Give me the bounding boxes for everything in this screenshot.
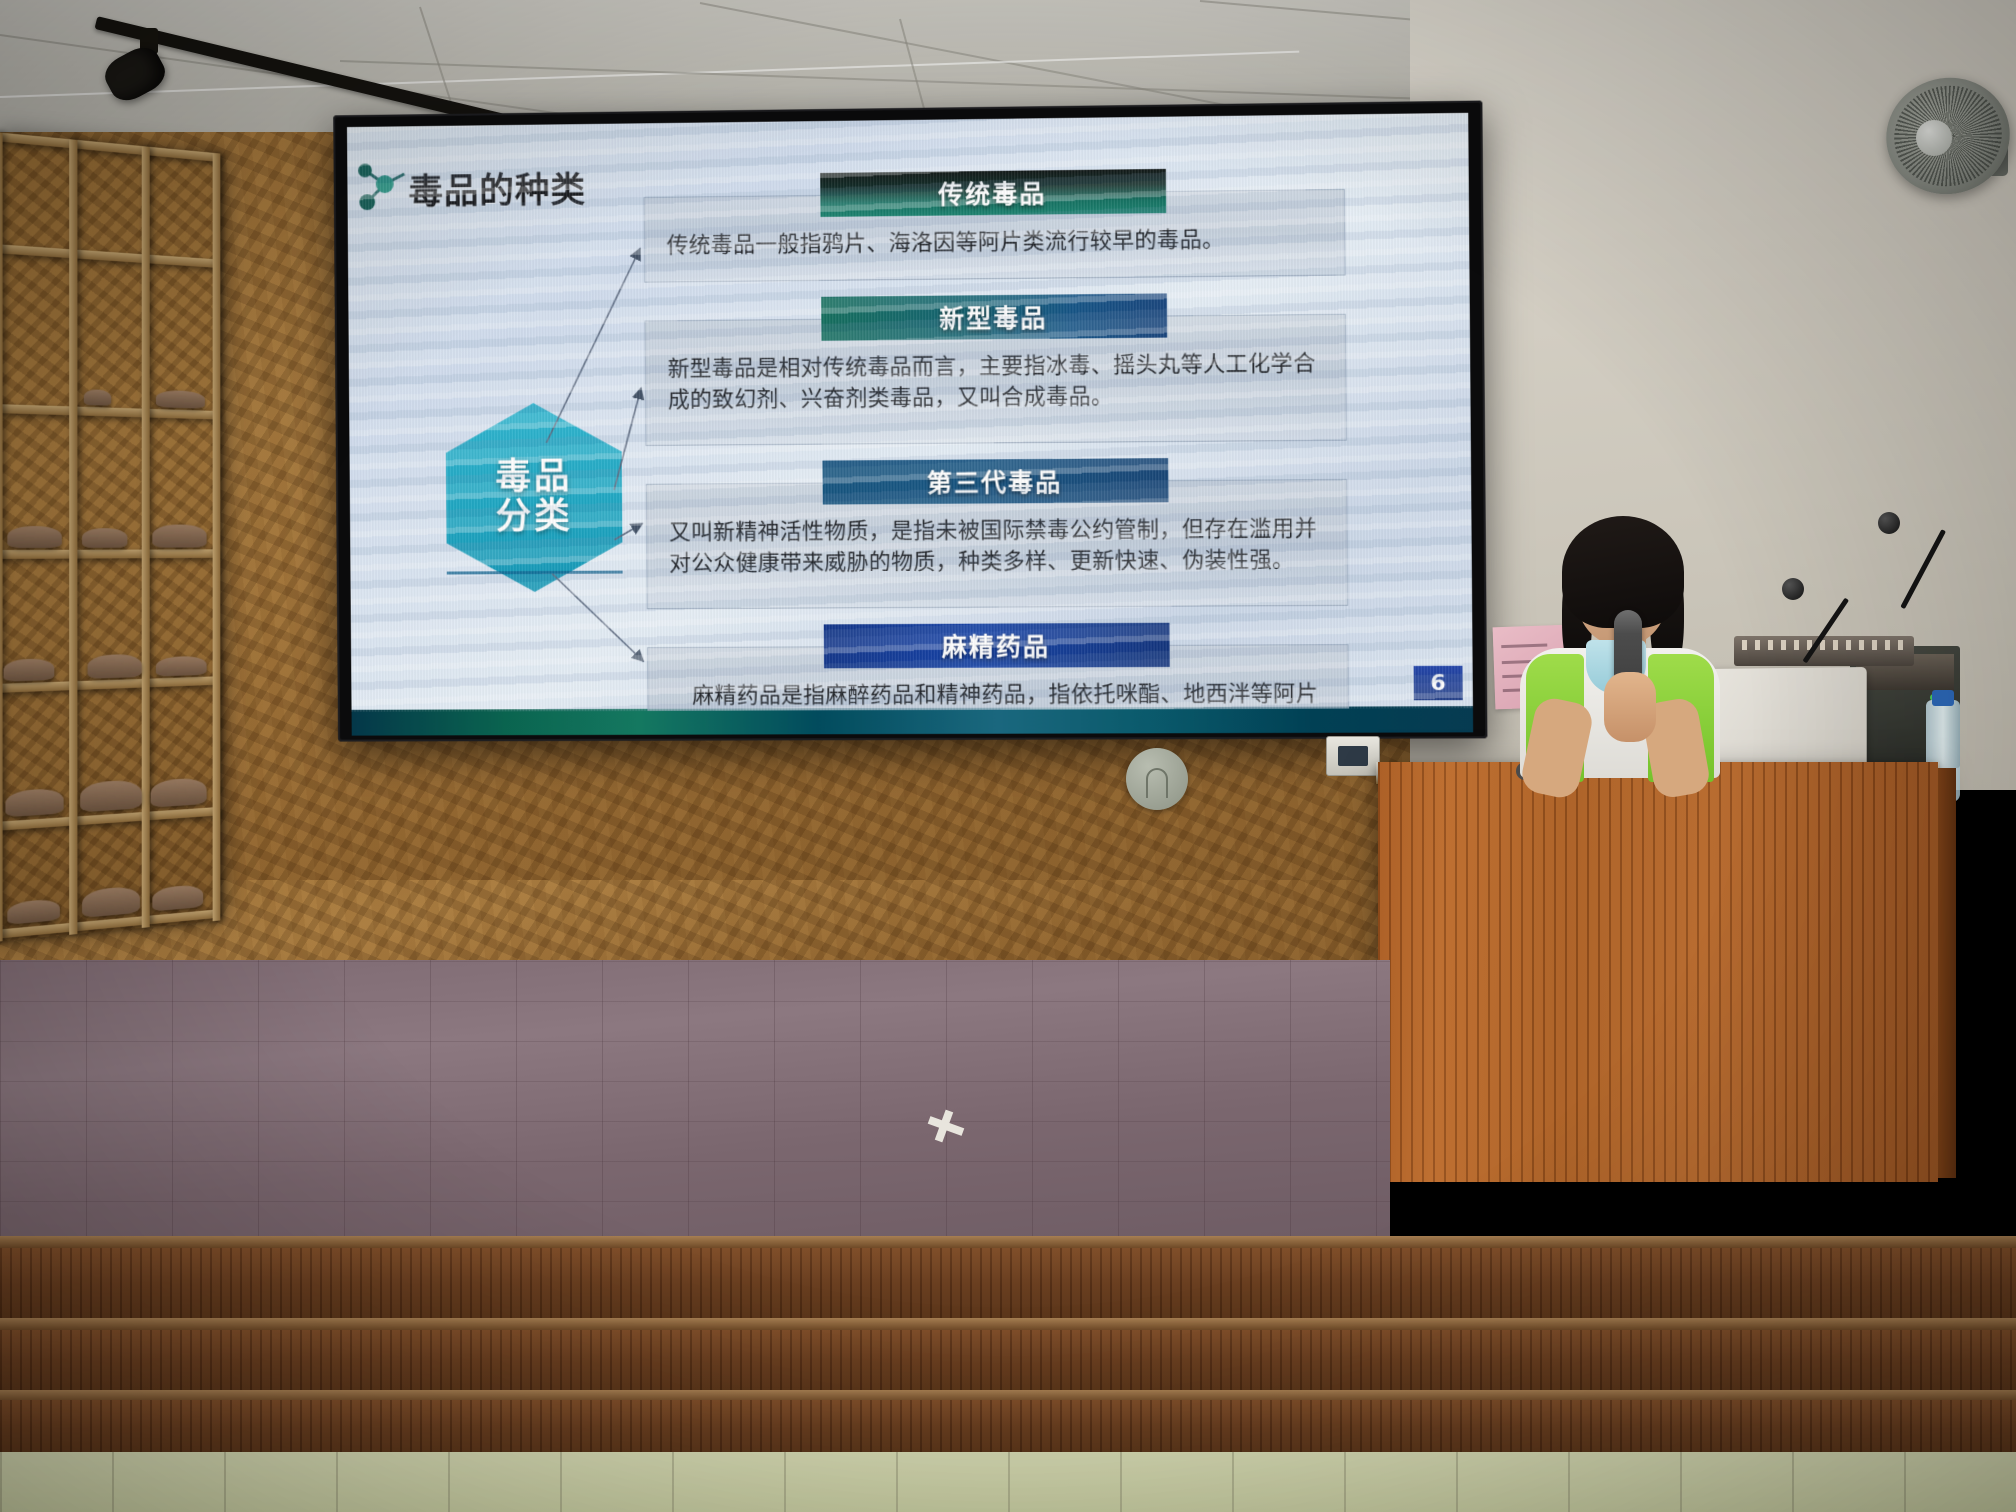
hands (1604, 672, 1656, 742)
lectern-wood-grain (1378, 762, 1938, 1182)
card-heading: 麻精药品 (823, 623, 1169, 669)
hexagon-classification-badge: 毒品 分类 (446, 402, 623, 592)
hp-laptop-lid[interactable]: hp (1708, 667, 1866, 777)
card-heading: 第三代毒品 (822, 458, 1168, 504)
stage-step-lip-1 (0, 1318, 2016, 1330)
lower-tile-floor (0, 1452, 2016, 1512)
stage-edge-lip (0, 1236, 2016, 1248)
card-traditional-drugs: 传统毒品 传统毒品一般指鸦片、海洛因等阿片类流行较早的毒品。 (643, 167, 1345, 283)
gooseneck-mic-head-2 (1878, 512, 1900, 534)
card-new-type-drugs: 新型毒品 新型毒品是相对传统毒品而言，主要指冰毒、摇头丸等人工化学合成的致幻剂、… (644, 292, 1347, 446)
mixer-knobs[interactable] (1742, 640, 1906, 650)
screen-surface: 毒品的种类 (347, 113, 1473, 712)
lectern-side-panel (1938, 768, 1956, 1178)
card-heading: 传统毒品 (820, 169, 1166, 217)
wall-speaker-slot (1146, 768, 1168, 798)
hexagon-label-line2: 分类 (496, 497, 573, 538)
molecule-icon (355, 160, 408, 214)
gooseneck-mic-head-1 (1782, 578, 1804, 600)
hexagon-label-line1: 毒品 (495, 457, 572, 498)
water-bottle-cap (1932, 690, 1954, 706)
presentation-slide: 毒品的种类 (347, 113, 1473, 712)
page-title: 毒品的种类 (408, 162, 586, 215)
classification-card-list: 传统毒品 传统毒品一般指鸦片、海洛因等阿片类流行较早的毒品。 新型毒品 新型毒品… (643, 167, 1350, 712)
card-heading: 新型毒品 (821, 294, 1167, 341)
stage-step-3 (0, 1400, 2016, 1456)
card-narcotic-psychotropic-drugs: 麻精药品 麻精药品是指麻醉药品和精神药品，指依托咪酯、地西泮等阿片类。滥用或者不… (647, 622, 1350, 712)
fan-hub (1916, 120, 1952, 156)
pottery-shelf-unit (0, 132, 220, 942)
stage-floor (0, 960, 1390, 1242)
stage-step-2 (0, 1330, 2016, 1392)
wooden-lectern (1378, 762, 1938, 1182)
led-display-screen: 毒品的种类 (333, 101, 1487, 742)
card-third-generation-drugs: 第三代毒品 又叫新精神活性物质，是指未被国际禁毒公约管制，但存在滥用并对公众健康… (646, 457, 1349, 609)
hexagon-label: 毒品 分类 (446, 402, 623, 592)
slide-number-badge: 6 (1414, 666, 1463, 700)
photo-scene: 毒品的种类 (0, 0, 2016, 1512)
wall-outlet-socket (1338, 746, 1368, 766)
stage-step-1 (0, 1248, 2016, 1320)
